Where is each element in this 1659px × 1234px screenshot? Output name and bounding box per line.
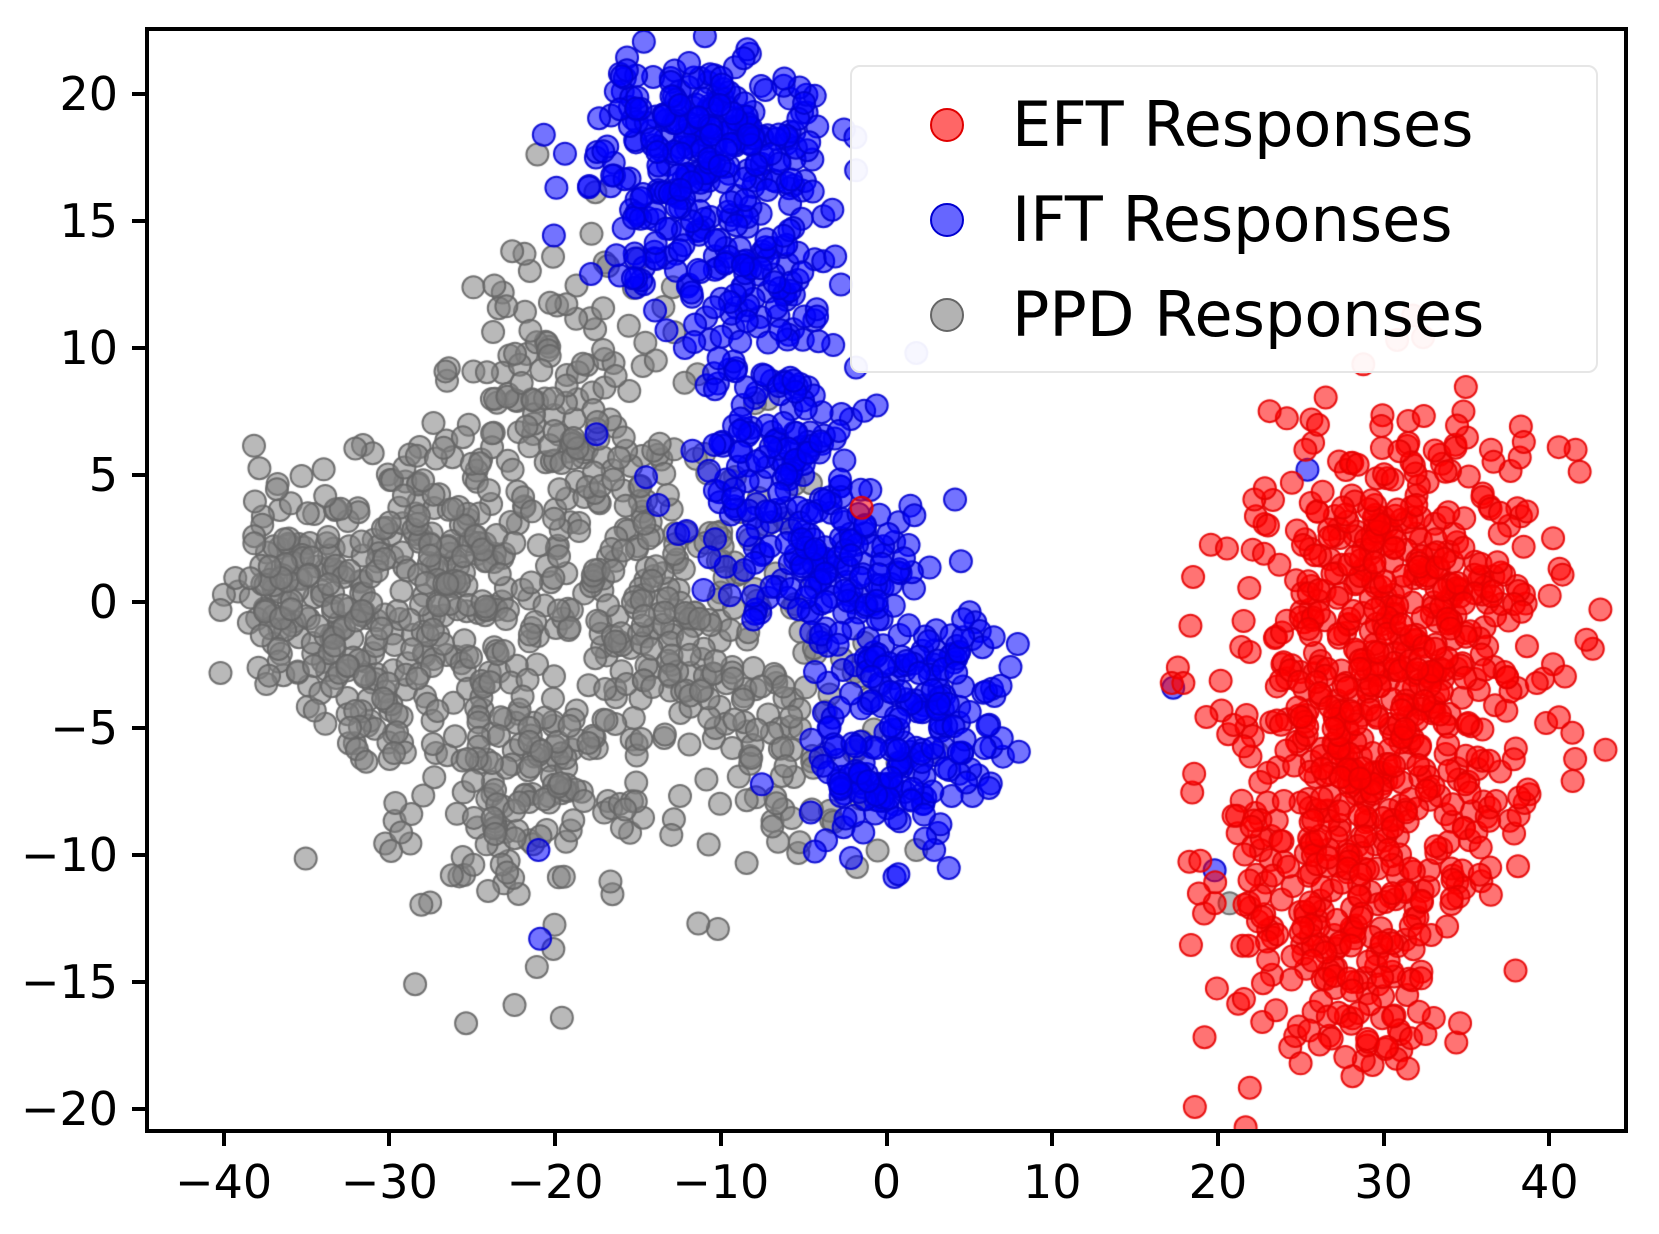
x-tick-mark bbox=[387, 1133, 391, 1146]
x-tick-label: −20 bbox=[506, 1159, 603, 1205]
y-tick-mark bbox=[132, 726, 145, 730]
y-tick-mark bbox=[132, 1107, 145, 1111]
y-tick-mark bbox=[132, 600, 145, 604]
y-tick-label: −5 bbox=[0, 705, 118, 751]
x-tick-label: −10 bbox=[672, 1159, 769, 1205]
x-tick-label: −30 bbox=[341, 1159, 438, 1205]
legend-swatch-eft-icon bbox=[930, 108, 964, 142]
y-tick-mark bbox=[132, 92, 145, 96]
x-tick-label: 20 bbox=[1189, 1159, 1248, 1205]
x-tick-label: 0 bbox=[872, 1159, 901, 1205]
y-tick-label: 0 bbox=[0, 579, 118, 625]
legend-item-ppd[interactable]: PPD Responses bbox=[852, 267, 1596, 363]
y-tick-mark bbox=[132, 346, 145, 350]
y-tick-label: 10 bbox=[0, 325, 118, 371]
legend-swatch-ppd-icon bbox=[930, 298, 964, 332]
x-tick-label: 40 bbox=[1520, 1159, 1579, 1205]
x-tick-mark bbox=[1216, 1133, 1220, 1146]
legend-item-eft[interactable]: EFT Responses bbox=[852, 77, 1596, 173]
scatter-figure: 20151050−5−10−15−20 −40−30−20−1001020304… bbox=[0, 0, 1659, 1234]
y-tick-label: 20 bbox=[0, 71, 118, 117]
y-tick-mark bbox=[132, 853, 145, 857]
legend-label-ift: IFT Responses bbox=[1012, 189, 1453, 251]
x-tick-mark bbox=[885, 1133, 889, 1146]
y-tick-mark bbox=[132, 219, 145, 223]
x-tick-mark bbox=[719, 1133, 723, 1146]
y-tick-label: −20 bbox=[0, 1086, 118, 1132]
y-tick-label: 5 bbox=[0, 452, 118, 498]
x-tick-mark bbox=[222, 1133, 226, 1146]
y-tick-label: −15 bbox=[0, 959, 118, 1005]
y-tick-mark bbox=[132, 473, 145, 477]
x-tick-label: −40 bbox=[175, 1159, 272, 1205]
legend-label-eft: EFT Responses bbox=[1012, 94, 1473, 156]
x-tick-label: 30 bbox=[1354, 1159, 1413, 1205]
x-tick-mark bbox=[1547, 1133, 1551, 1146]
x-tick-mark bbox=[1050, 1133, 1054, 1146]
x-tick-mark bbox=[1382, 1133, 1386, 1146]
legend-item-ift[interactable]: IFT Responses bbox=[852, 172, 1596, 268]
y-tick-mark bbox=[132, 980, 145, 984]
legend-label-ppd: PPD Responses bbox=[1012, 284, 1484, 346]
legend-swatch-ift-icon bbox=[930, 203, 964, 237]
x-tick-label: 10 bbox=[1023, 1159, 1082, 1205]
legend-box: EFT Responses IFT Responses PPD Response… bbox=[850, 65, 1598, 373]
x-tick-mark bbox=[553, 1133, 557, 1146]
y-tick-label: 15 bbox=[0, 198, 118, 244]
y-tick-label: −10 bbox=[0, 832, 118, 878]
